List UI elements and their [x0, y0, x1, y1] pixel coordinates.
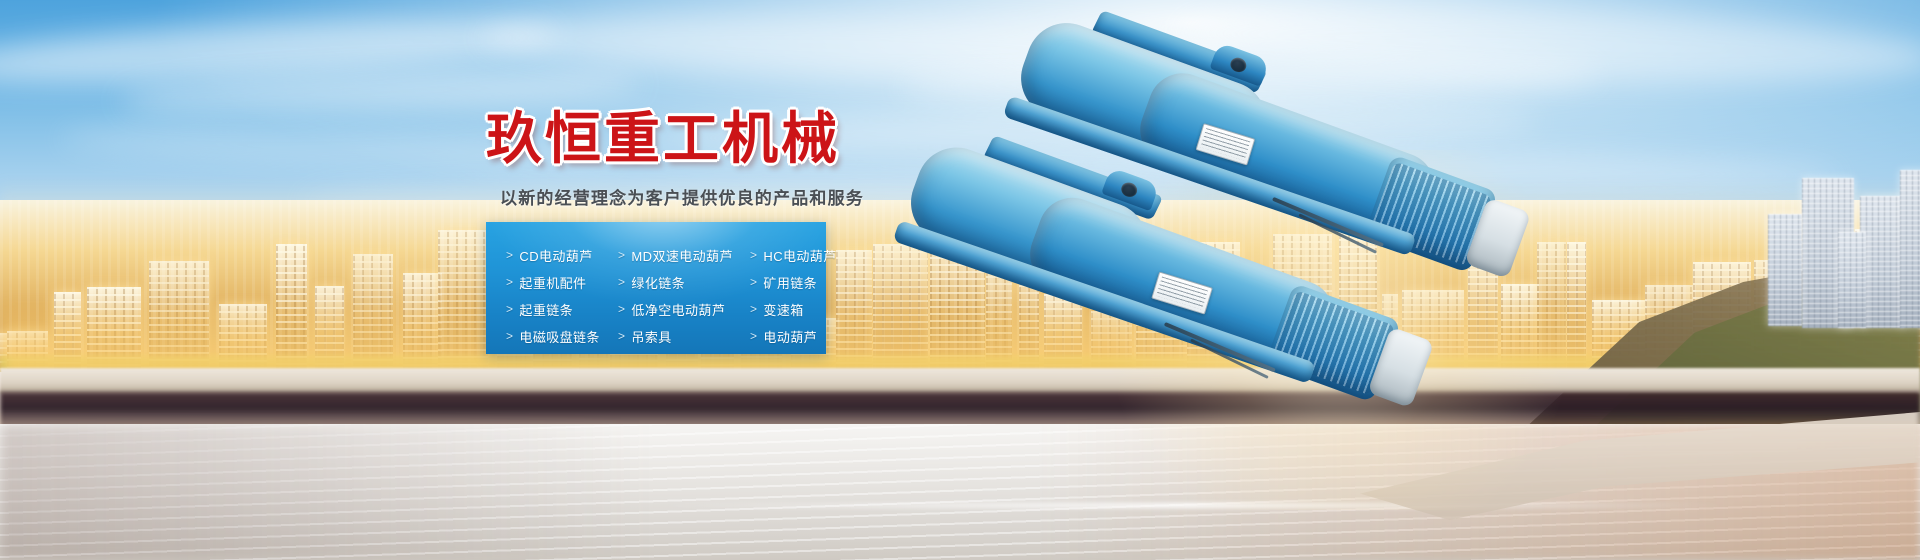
chevron-right-icon: >: [750, 330, 757, 342]
product-link-7[interactable]: >起重链条: [506, 300, 618, 319]
chevron-right-icon: >: [506, 330, 513, 342]
product-link-2[interactable]: >MD双速电动葫芦: [618, 246, 750, 265]
chevron-right-icon: >: [750, 249, 757, 261]
road-barrier: [0, 368, 1920, 394]
product-link-9[interactable]: >变速箱: [750, 300, 837, 319]
banner-copy: 玖恒重工机械 以新的经营理念为客户提供优良的产品和服务: [486, 112, 906, 209]
product-links-panel: >CD电动葫芦>MD双速电动葫芦>HC电动葫芦>起重机配件>绿化链条>矿用链条>…: [486, 222, 826, 354]
product-link-label: 电磁吸盘链条: [519, 327, 599, 346]
product-link-4[interactable]: >起重机配件: [506, 273, 618, 292]
product-link-3[interactable]: >HC电动葫芦: [750, 246, 837, 265]
product-link-10[interactable]: >电磁吸盘链条: [506, 327, 618, 346]
chevron-right-icon: >: [618, 303, 625, 315]
chevron-right-icon: >: [618, 330, 625, 342]
product-link-1[interactable]: >CD电动葫芦: [506, 246, 618, 265]
product-link-5[interactable]: >绿化链条: [618, 273, 750, 292]
product-link-label: 低净空电动葫芦: [631, 300, 725, 319]
banner-headline: 玖恒重工机械: [486, 112, 906, 168]
product-link-11[interactable]: >吊索具: [618, 327, 750, 346]
road-left-shade: [0, 424, 653, 560]
chevron-right-icon: >: [506, 276, 513, 288]
chevron-right-icon: >: [618, 276, 625, 288]
far-building: [1900, 170, 1920, 328]
chevron-right-icon: >: [750, 276, 757, 288]
road-lane-marking: [653, 503, 1728, 508]
far-building: [1860, 196, 1904, 328]
chevron-right-icon: >: [618, 249, 625, 261]
chevron-right-icon: >: [506, 249, 513, 261]
hero-banner: 玖恒重工机械 以新的经营理念为客户提供优良的产品和服务 >CD电动葫芦>MD双速…: [0, 0, 1920, 560]
chevron-right-icon: >: [750, 303, 757, 315]
product-link-label: 起重链条: [519, 300, 573, 319]
product-link-label: HC电动葫芦: [763, 246, 836, 265]
far-building: [1768, 214, 1802, 326]
far-building: [1838, 232, 1866, 328]
product-link-label: 吊索具: [631, 327, 671, 346]
banner-subheadline: 以新的经营理念为客户提供优良的产品和服务: [500, 184, 906, 209]
product-links-grid: >CD电动葫芦>MD双速电动葫芦>HC电动葫芦>起重机配件>绿化链条>矿用链条>…: [486, 222, 826, 354]
road-barrier-shadow: [0, 392, 1920, 428]
product-link-8[interactable]: >低净空电动葫芦: [618, 300, 750, 319]
chevron-right-icon: >: [506, 303, 513, 315]
product-link-12[interactable]: >电动葫芦: [750, 327, 837, 346]
product-link-label: 电动葫芦: [763, 327, 817, 346]
product-link-label: 起重机配件: [519, 273, 586, 292]
product-link-label: MD双速电动葫芦: [631, 246, 732, 265]
product-link-label: 变速箱: [763, 300, 803, 319]
product-link-label: 矿用链条: [763, 273, 817, 292]
product-link-6[interactable]: >矿用链条: [750, 273, 837, 292]
product-link-label: 绿化链条: [631, 273, 685, 292]
product-link-label: CD电动葫芦: [519, 246, 592, 265]
